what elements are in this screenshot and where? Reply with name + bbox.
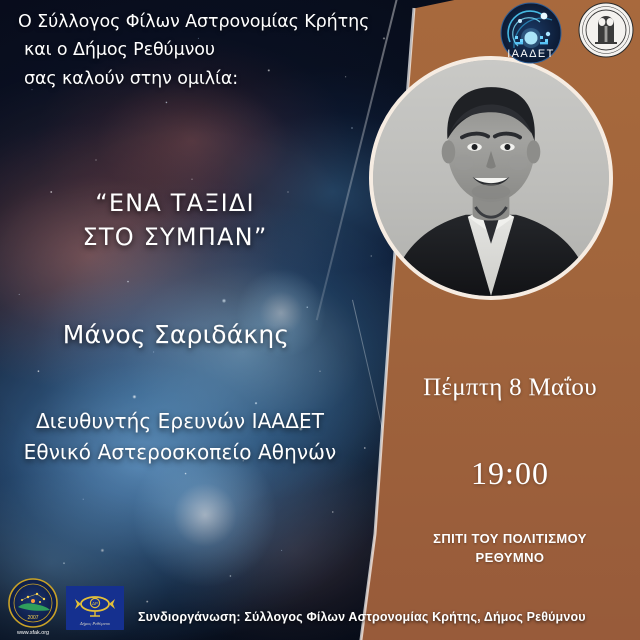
sfak-logo: 2007 www.sfak.org [6,578,62,636]
svg-text:www.sfak.org: www.sfak.org [16,630,49,636]
svg-text:ΔΡ: ΔΡ [92,601,98,606]
speaker-affiliation: Διευθυντής Ερευνών ΙΑΑΔΕΤ Εθνικό Αστεροσ… [0,406,360,468]
event-venue: ΣΠΙΤΙ ΤΟΥ ΠΟΛΙΤΙΣΜΟΥ ΡΕΘΥΜΝΟ [380,530,640,568]
invitation-line-2: και ο Δήμος Ρεθύμνου [24,36,348,64]
dimos-rethymnou-logo: ΔΡ Δήμος Ρεθύμνου [66,586,124,630]
iaadet-logo-label: ΙΑΑΔΕΤ [494,48,568,60]
noa-seal-logo [578,2,634,58]
talk-title: “ΕΝΑ ΤΑΞΙΔΙ ΣΤΟ ΣΥΜΠΑΝ” [0,186,350,254]
svg-text:Δήμος Ρεθύμνου: Δήμος Ρεθύμνου [79,621,110,626]
event-time: 19:00 [380,455,640,492]
event-venue-line-2: ΡΕΘΥΜΝΟ [380,549,640,568]
invitation-line-1: Ο Σύλλογος Φίλων Αστρονομίας Κρήτης [18,8,348,36]
svg-text:2007: 2007 [27,615,38,621]
speaker-role: Διευθυντής Ερευνών ΙΑΑΔΕΤ [0,406,360,437]
talk-title-line-2: ΣΤΟ ΣΥΜΠΑΝ” [0,220,350,254]
speaker-portrait [369,56,613,300]
talk-title-line-1: “ΕΝΑ ΤΑΞΙΔΙ [0,186,350,220]
event-date: Πέμπτη 8 Μαΐου [380,374,640,402]
invitation-line-3: σας καλούν στην ομιλία: [24,65,348,93]
poster-canvas: ΙΑΑΔΕΤ Ο Σύλλογος Φίλων Αστρονομίας Κρήτ… [0,0,640,640]
organizers-credit: Συνδιοργάνωση: Σύλλογος Φίλων Αστρονομία… [138,610,586,624]
speaker-institute: Εθνικό Αστεροσκοπείο Αθηνών [0,437,360,468]
invitation-text: Ο Σύλλογος Φίλων Αστρονομίας Κρήτης και … [18,8,348,93]
speaker-name: Μάνος Σαριδάκης [0,320,352,349]
portrait-photo [373,60,609,296]
portrait-ring [369,56,613,300]
event-venue-line-1: ΣΠΙΤΙ ΤΟΥ ΠΟΛΙΤΙΣΜΟΥ [380,530,640,549]
